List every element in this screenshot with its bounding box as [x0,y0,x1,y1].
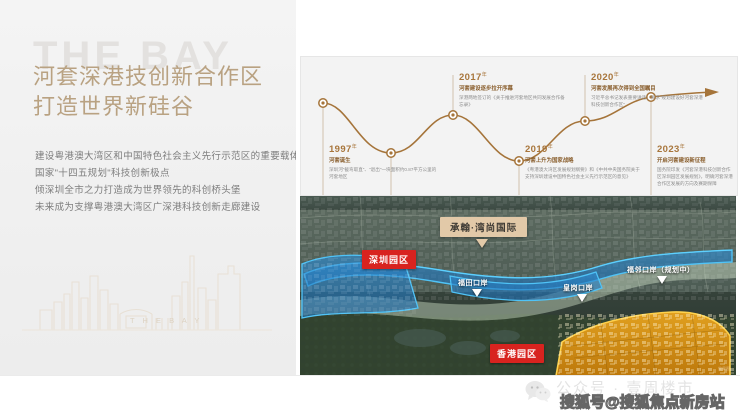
timeline-event-2023: 2023年 开启河套建设新征程 国务院印发《河套深港科技创新合作区深圳园区发展规… [657,143,735,187]
zone-badge-shenzhen[interactable]: 深圳园区 [362,250,416,269]
timeline-event-2017: 2017年 河套建设逐步拉开序幕 深港两地签订的《关于推进河套地区共同发展合作备… [459,71,567,108]
timeline-year-2019: 2019年 [525,143,643,155]
project-label-chenghan[interactable]: 承翰·湾尚国际 [440,217,527,237]
project-pointer-arrow-icon [476,239,488,248]
timeline-desc-2017: 深港两地签订的《关于推进河套地区共同发展合作备忘录》 [459,94,567,108]
timeline-headline-2023: 开启河套建设新征程 [657,157,735,165]
timeline-headline-2017: 河套建设逐步拉开序幕 [459,85,567,93]
port-label-futian: 福田口岸 [458,278,488,288]
description-line-1: 建设粤港澳大湾区和中国特色社会主义先行示范区的重要载体 [35,148,300,165]
left-info-panel: THE BAY 河套深港技创新合作区 打造世界新硅谷 建设粤港澳大湾区和中国特色… [0,0,296,416]
timeline-event-2020: 2020年 河套发展再次得到全国瞩目 习近平总书记发表重要讲话，要求"规划建设好… [591,71,703,108]
description-line-4: 未来成为支撑粤港澳大湾区广深港科技创新走廊建设 [35,199,300,216]
timeline-headline-2020: 河套发展再次得到全国瞩目 [591,85,703,93]
aerial-map: 效果图 承翰·湾尚国际 深圳园区 香港园区 福田口岸 皇岗口岸 福邻口岸（规划中… [300,196,736,376]
port-label-fulin-planned: 福邻口岸（规划中） [627,265,695,275]
timeline-desc-2019: 《粤港澳大湾区发展规划纲要》和《中共中央国务院关于支持深圳建设中国特色社会主义先… [525,166,643,180]
port-arrow-futian-icon [472,289,482,297]
timeline-headline-2019: 河套上升为国家战略 [525,157,643,165]
presentation-slide: THE BAY 河套深港技创新合作区 打造世界新硅谷 建设粤港澳大湾区和中国特色… [0,0,740,416]
timeline-year-2020: 2020年 [591,71,703,83]
timeline-year-1997: 1997年 [329,143,437,155]
timeline-event-2019: 2019年 河套上升为国家战略 《粤港澳大湾区发展规划纲要》和《中共中央国务院关… [525,143,643,180]
timeline-headline-1997: 河套诞生 [329,157,437,165]
wechat-icon [525,380,551,402]
svg-text:效果图: 效果图 [718,365,730,371]
skyline-label: T H E B A Y [130,316,202,325]
right-content-area: 1997年 河套诞生 深圳河"截弯取直"、"退出"一块面积约0.87平方公里的河… [296,0,740,416]
timeline-chart: 1997年 河套诞生 深圳河"截弯取直"、"退出"一块面积约0.87平方公里的河… [300,56,738,196]
sohu-watermark-text: 搜狐号@搜狐焦点新房站 [560,391,725,412]
page-title-line-1: 河套深港技创新合作区 [33,62,263,92]
timeline-desc-1997: 深圳河"截弯取直"、"退出"一块面积约0.87平方公里的河套地区 [329,166,437,180]
timeline-year-2017: 2017年 [459,71,567,83]
zone-badge-hongkong[interactable]: 香港园区 [490,344,544,363]
port-label-huanggang: 皇岗口岸 [563,283,593,293]
description-line-2: 国家"十四五规划"科技创新极点 [35,165,300,182]
timeline-desc-2023: 国务院印发《河套深港科技创新合作区深圳园区发展规划》，明确河套深港合作区发展的方… [657,166,735,187]
page-title: 河套深港技创新合作区 打造世界新硅谷 [33,62,263,122]
port-arrow-huanggang-icon [577,294,587,302]
skyline-illustration [22,252,272,352]
timeline-year-2023: 2023年 [657,143,735,155]
page-title-line-2: 打造世界新硅谷 [33,92,263,122]
port-arrow-fulin-icon [657,276,667,284]
description-line-3: 倾深圳全市之力打造成为世界领先的科创桥头堡 [35,182,300,199]
timeline-desc-2020: 习近平总书记发表重要讲话，要求"规划建设好河套深港科技创新合作区" [591,94,703,108]
description-text: 建设粤港澳大湾区和中国特色社会主义先行示范区的重要载体 国家"十四五规划"科技创… [35,148,300,216]
timeline-event-1997: 1997年 河套诞生 深圳河"截弯取直"、"退出"一块面积约0.87平方公里的河… [329,143,437,180]
